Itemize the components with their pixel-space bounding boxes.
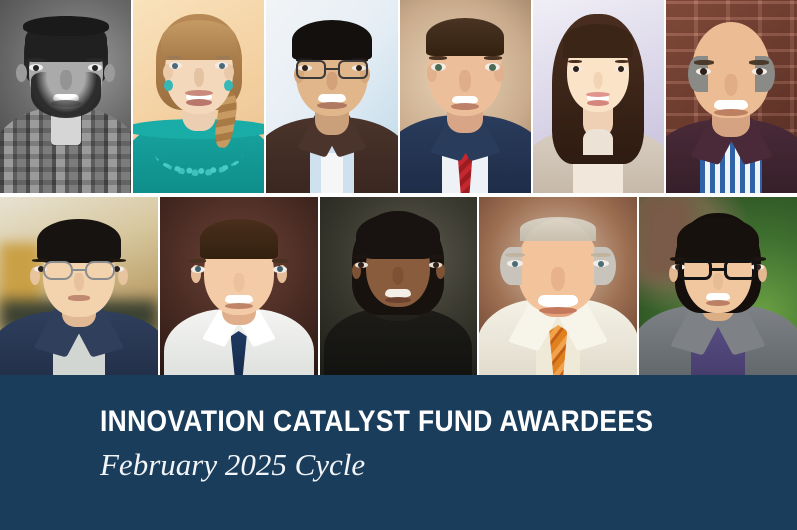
banner-subtitle: February 2025 Cycle [100, 449, 729, 480]
portrait-5 [533, 0, 664, 193]
portrait-9 [320, 197, 478, 375]
title-banner: INNOVATION CATALYST FUND AWARDEES Februa… [0, 375, 797, 530]
portrait-2 [133, 0, 264, 193]
photo-grid [0, 0, 797, 375]
portrait-1 [0, 0, 131, 193]
photo-row-bottom [0, 197, 797, 375]
photo-row-top [0, 0, 797, 193]
portrait-11 [639, 197, 797, 375]
portrait-8 [160, 197, 318, 375]
portrait-4 [400, 0, 531, 193]
banner-text-block: INNOVATION CATALYST FUND AWARDEES Februa… [100, 407, 729, 480]
portrait-7 [0, 197, 158, 375]
poster-root: INNOVATION CATALYST FUND AWARDEES Februa… [0, 0, 797, 530]
portrait-10 [479, 197, 637, 375]
portrait-3 [266, 0, 397, 193]
portrait-6 [666, 0, 797, 193]
banner-title: INNOVATION CATALYST FUND AWARDEES [100, 407, 653, 437]
